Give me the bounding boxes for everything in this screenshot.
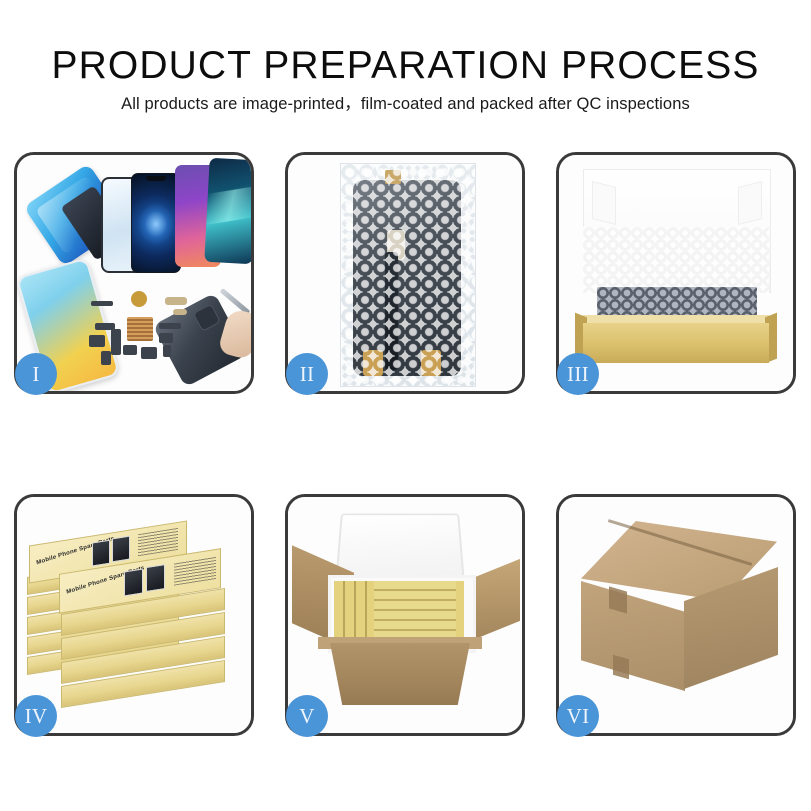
panel-4-image: Mobile Phone Spare Parts Mobile Phone Sp… (17, 497, 251, 733)
panel-6-image (559, 497, 793, 733)
process-step-panel-1[interactable]: I (14, 152, 254, 394)
box-spec-text-lines (138, 528, 178, 556)
process-step-panel-2[interactable]: II (285, 152, 525, 394)
foam-liner (583, 227, 769, 293)
step-badge-5: V (286, 695, 328, 737)
panel-5-image (288, 497, 522, 733)
page-title: PRODUCT PREPARATION PROCESS (0, 44, 811, 88)
step-badge-1: I (15, 353, 57, 395)
box-product-photo (146, 564, 165, 592)
panel-2-image (288, 155, 522, 391)
phone-display-blue (131, 173, 181, 273)
process-step-panel-4[interactable]: Mobile Phone Spare Parts Mobile Phone Sp… (14, 494, 254, 736)
phone-display-teal (204, 158, 251, 264)
header: PRODUCT PREPARATION PROCESS All products… (0, 0, 811, 140)
spare-parts-cluster (103, 295, 213, 375)
process-step-panel-6[interactable]: VI (556, 494, 796, 736)
bubble-wrap-bag (340, 163, 476, 387)
lid-flap-left (592, 181, 616, 225)
process-step-panel-3[interactable]: III (556, 152, 796, 394)
carton-tape-lower (613, 655, 629, 680)
box-product-photo (124, 569, 143, 597)
yellow-tray-front (583, 323, 769, 363)
page-subtitle: All products are image-printed，film-coat… (0, 90, 811, 114)
step-badge-4: IV (15, 695, 57, 737)
yellow-boxes-row-right (374, 581, 456, 639)
box-product-photo (112, 536, 130, 563)
lid-flap-right (738, 181, 762, 225)
retail-box-stack: Mobile Phone Spare Parts Mobile Phone Sp… (23, 523, 247, 713)
bubble-texture (341, 164, 475, 386)
step-badge-6: VI (557, 695, 599, 737)
panel-1-image (17, 155, 251, 391)
carton-left-face (581, 581, 685, 691)
step-badge-3: III (557, 353, 599, 395)
infographic-page: PRODUCT PREPARATION PROCESS All products… (0, 0, 811, 811)
process-grid: I II (14, 152, 797, 742)
box-spec-text-lines (174, 556, 216, 586)
panel-3-image (559, 155, 793, 391)
process-step-panel-5[interactable]: V (285, 494, 525, 736)
step-badge-2: II (286, 353, 328, 395)
box-product-photo (92, 540, 110, 567)
carton-front-panel (324, 643, 476, 705)
